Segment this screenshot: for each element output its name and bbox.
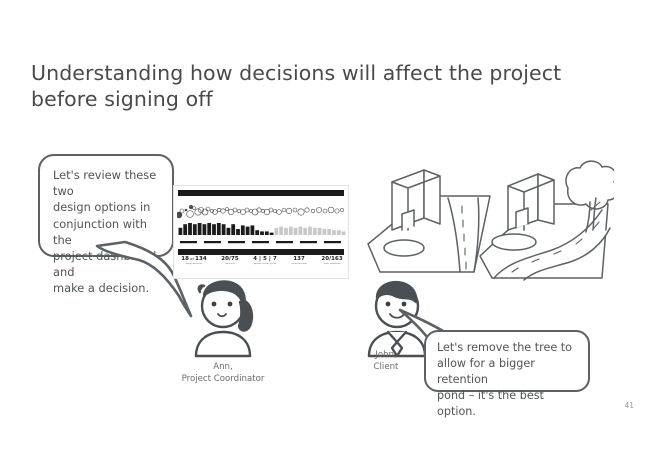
dashboard-bubble-chart (177, 198, 347, 220)
dashboard-stat-label: connected data (291, 264, 306, 266)
avatar-john-caption: John, Client (355, 350, 417, 373)
dashboard-bar-chart (178, 221, 346, 235)
site-option-sketches (362, 158, 614, 282)
dashboard-stat-value: 18 of 134 (181, 257, 206, 262)
dashboard-stat: 20/163 items completed (321, 257, 342, 266)
dashboard-stat: 20/75 data sets (221, 257, 238, 266)
dashboard-top-bar (178, 190, 344, 196)
dashboard-stat-label: items completed (321, 264, 342, 266)
speech-bubble-john: Let's remove the tree to allow for a big… (424, 330, 590, 392)
dashboard-stat-value: 20/75 (221, 257, 238, 262)
dashboard-stat-value: 4 | 5 | 7 (253, 257, 277, 262)
site-option-a (368, 170, 490, 272)
dashboard-bottom-bar (178, 249, 344, 255)
site-option-b (480, 161, 614, 280)
avatar-ann-caption: Ann, Project Coordinator (163, 362, 283, 385)
page-title: Understanding how decisions will affect … (31, 60, 591, 112)
dashboard-stats-row: 18 of 134 design decisions 20/75 data se… (174, 257, 349, 279)
dashboard-stat-value: 20/163 (321, 257, 342, 262)
dashboard-stat-label: options reviews cycles (253, 264, 277, 266)
building-icon (508, 174, 554, 230)
pond-icon (492, 234, 536, 250)
building-icon (392, 170, 440, 230)
dashboard-stat-value: 137 (291, 257, 306, 262)
avatar-ann (180, 278, 266, 358)
project-dashboard-image: 18 of 134 design decisions 20/75 data se… (173, 185, 349, 279)
dashboard-stat-label: design decisions (181, 264, 206, 266)
dashboard-stat-label: data sets (221, 264, 238, 266)
speech-bubble-john-text: Let's remove the tree to allow for a big… (426, 332, 588, 390)
dashboard-dash-row (178, 238, 346, 246)
page-number: 41 (624, 401, 634, 410)
slide-canvas: Understanding how decisions will affect … (0, 0, 658, 464)
dashboard-stat: 18 of 134 design decisions (181, 257, 206, 266)
dashboard-stat: 4 | 5 | 7 options reviews cycles (253, 257, 277, 266)
dashboard-stat: 137 connected data (291, 257, 306, 266)
pond-icon (384, 240, 424, 256)
